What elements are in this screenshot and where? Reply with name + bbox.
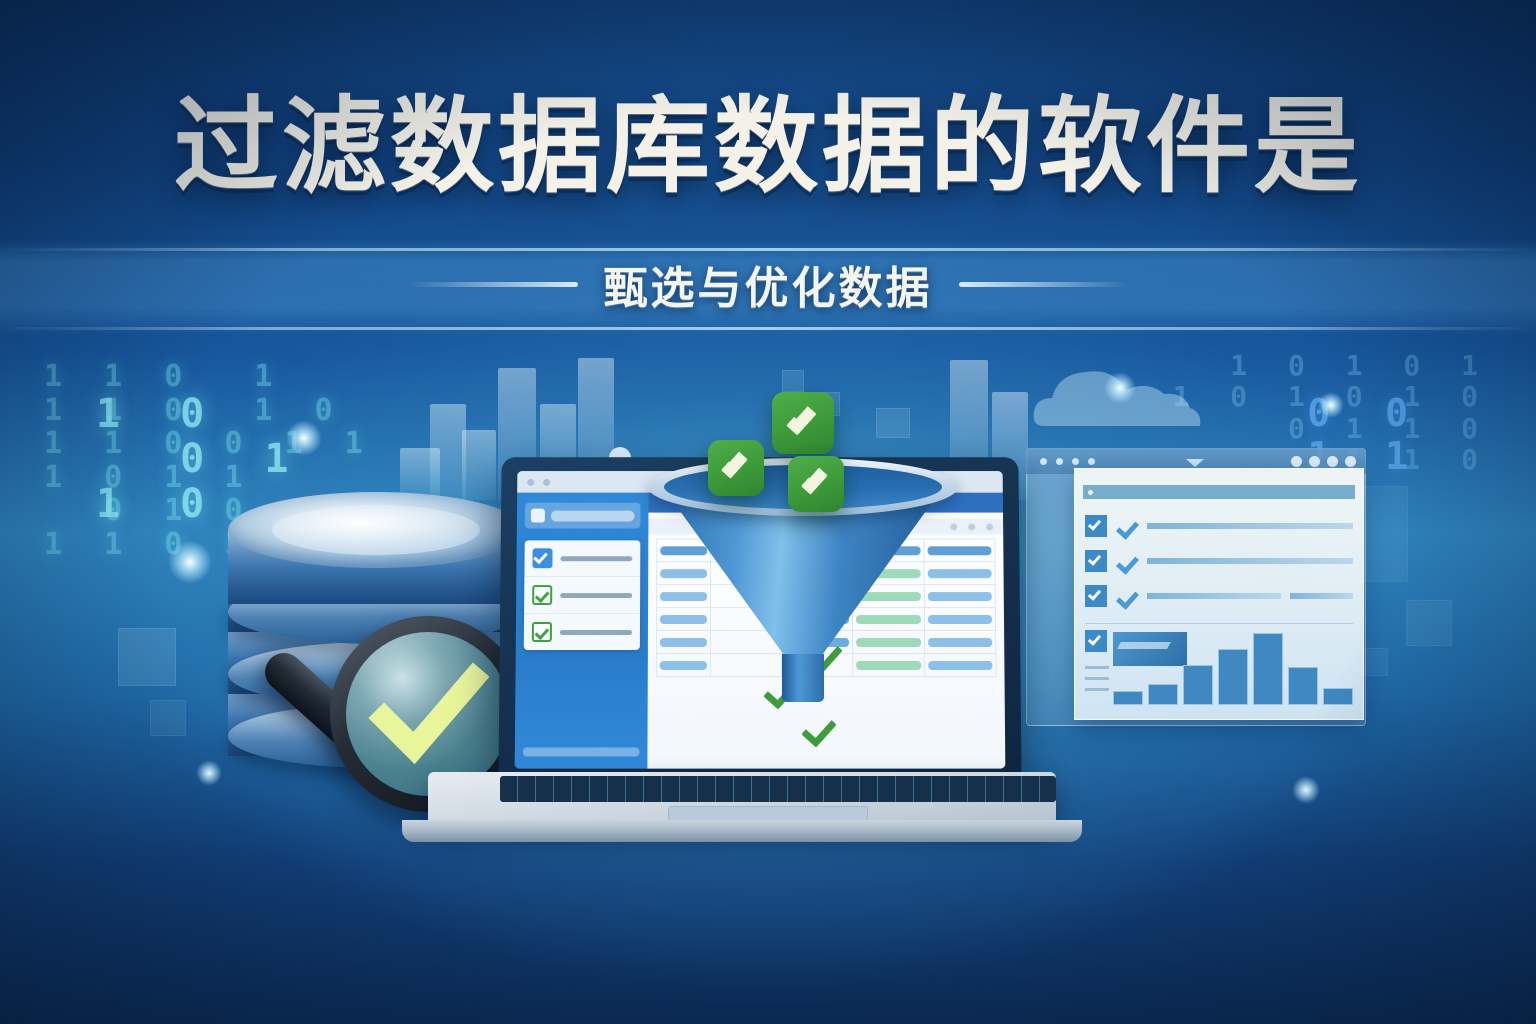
chart-bar	[1253, 633, 1283, 705]
poster-canvas: 1 1 0 1 1 1 0 1 0 1 1 0 0 1 1 1 0 1 1 0 …	[0, 0, 1536, 1024]
checkbox-icon[interactable]	[532, 622, 552, 642]
sidebar-footer	[523, 747, 639, 756]
bg-glow	[1292, 776, 1320, 804]
text-line	[1147, 523, 1353, 529]
database-icon	[531, 509, 545, 523]
title-text: 过滤数据库数据的软件是	[0, 92, 1536, 200]
bg-glow	[196, 760, 222, 786]
chart-bar	[1113, 691, 1143, 705]
app-sidebar[interactable]	[515, 493, 649, 769]
band-rule-top	[0, 248, 1536, 251]
text-line	[1147, 593, 1281, 599]
list-item[interactable]	[1085, 585, 1353, 607]
check-icon	[721, 451, 748, 479]
laptop-base	[392, 772, 1092, 850]
page-title: 过滤数据库数据的软件是	[0, 92, 1536, 200]
check-icon	[1116, 588, 1138, 604]
chart-bar	[1288, 667, 1318, 705]
subtitle-dash-right	[959, 282, 1129, 287]
panel-bar-chart	[1085, 623, 1353, 705]
funnel-stem	[782, 654, 824, 702]
filter-label	[560, 629, 632, 634]
list-item[interactable]	[1085, 515, 1353, 537]
bg-square	[876, 408, 910, 438]
bg-square	[782, 370, 804, 392]
filter-row[interactable]	[524, 614, 640, 650]
chart-bars	[1113, 633, 1353, 705]
bg-glow	[168, 540, 212, 584]
search-input[interactable]	[525, 503, 640, 529]
bg-glow	[286, 420, 322, 456]
bg-glow	[1318, 392, 1344, 418]
chart-bar	[1183, 665, 1213, 705]
filter-list	[524, 540, 640, 650]
laptop-deck	[428, 772, 1056, 824]
bg-square	[150, 700, 186, 736]
chart-bar	[1323, 688, 1353, 705]
subtitle-text: 甄选与优化数据	[604, 252, 933, 316]
chart-bar	[1218, 649, 1248, 705]
check-card	[788, 456, 844, 512]
check-icon	[1116, 518, 1138, 534]
subtitle-dash-left	[408, 282, 578, 287]
check-card	[772, 392, 834, 454]
panel-header-strip	[1083, 485, 1355, 499]
checkbox-icon[interactable]	[532, 585, 552, 605]
panel-checklist	[1085, 515, 1353, 620]
check-icon	[801, 467, 828, 495]
trackpad[interactable]	[668, 806, 868, 821]
text-line	[1147, 558, 1353, 564]
subtitle-row: 甄选与优化数据	[0, 252, 1536, 316]
text-line	[1290, 593, 1353, 599]
filter-row[interactable]	[524, 577, 640, 614]
bg-square	[118, 628, 176, 686]
cloud-icon	[1030, 356, 1220, 442]
keyboard[interactable]	[500, 776, 1056, 802]
band-rule-bottom	[0, 327, 1536, 330]
check-icon	[786, 404, 816, 435]
search-field[interactable]	[551, 510, 634, 521]
panel-body	[1074, 468, 1364, 720]
filter-label	[560, 593, 632, 598]
check-icon	[800, 714, 834, 740]
bg-glow	[1104, 372, 1136, 404]
checkbox-icon[interactable]	[532, 548, 552, 568]
filter-row[interactable]	[524, 540, 640, 577]
chevron-down-icon[interactable]	[1186, 459, 1204, 467]
check-icon	[1116, 553, 1138, 569]
filter-label	[560, 556, 632, 561]
list-item[interactable]	[1085, 550, 1353, 572]
check-card	[708, 440, 764, 496]
bg-square	[1406, 600, 1452, 646]
chart-bar	[1148, 684, 1178, 705]
laptop-front-lip	[402, 820, 1082, 842]
